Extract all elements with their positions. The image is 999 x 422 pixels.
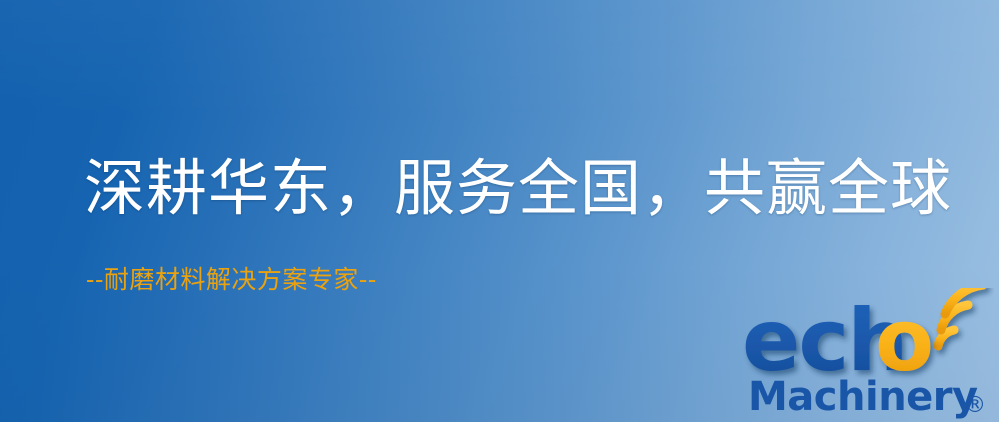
page-title: 深耕华东，服务全国，共赢全球 (84, 152, 952, 226)
company-logo: ech o Machinery ® (742, 288, 994, 420)
registered-trademark-icon: ® (964, 393, 986, 418)
promo-banner: 深耕华东，服务全国，共赢全球 --耐磨材料解决方案专家-- (0, 0, 999, 422)
signal-waves-icon (938, 288, 983, 346)
banner-subtitle: --耐磨材料解决方案专家-- (86, 264, 377, 296)
logo-tagline: Machinery (748, 374, 978, 420)
